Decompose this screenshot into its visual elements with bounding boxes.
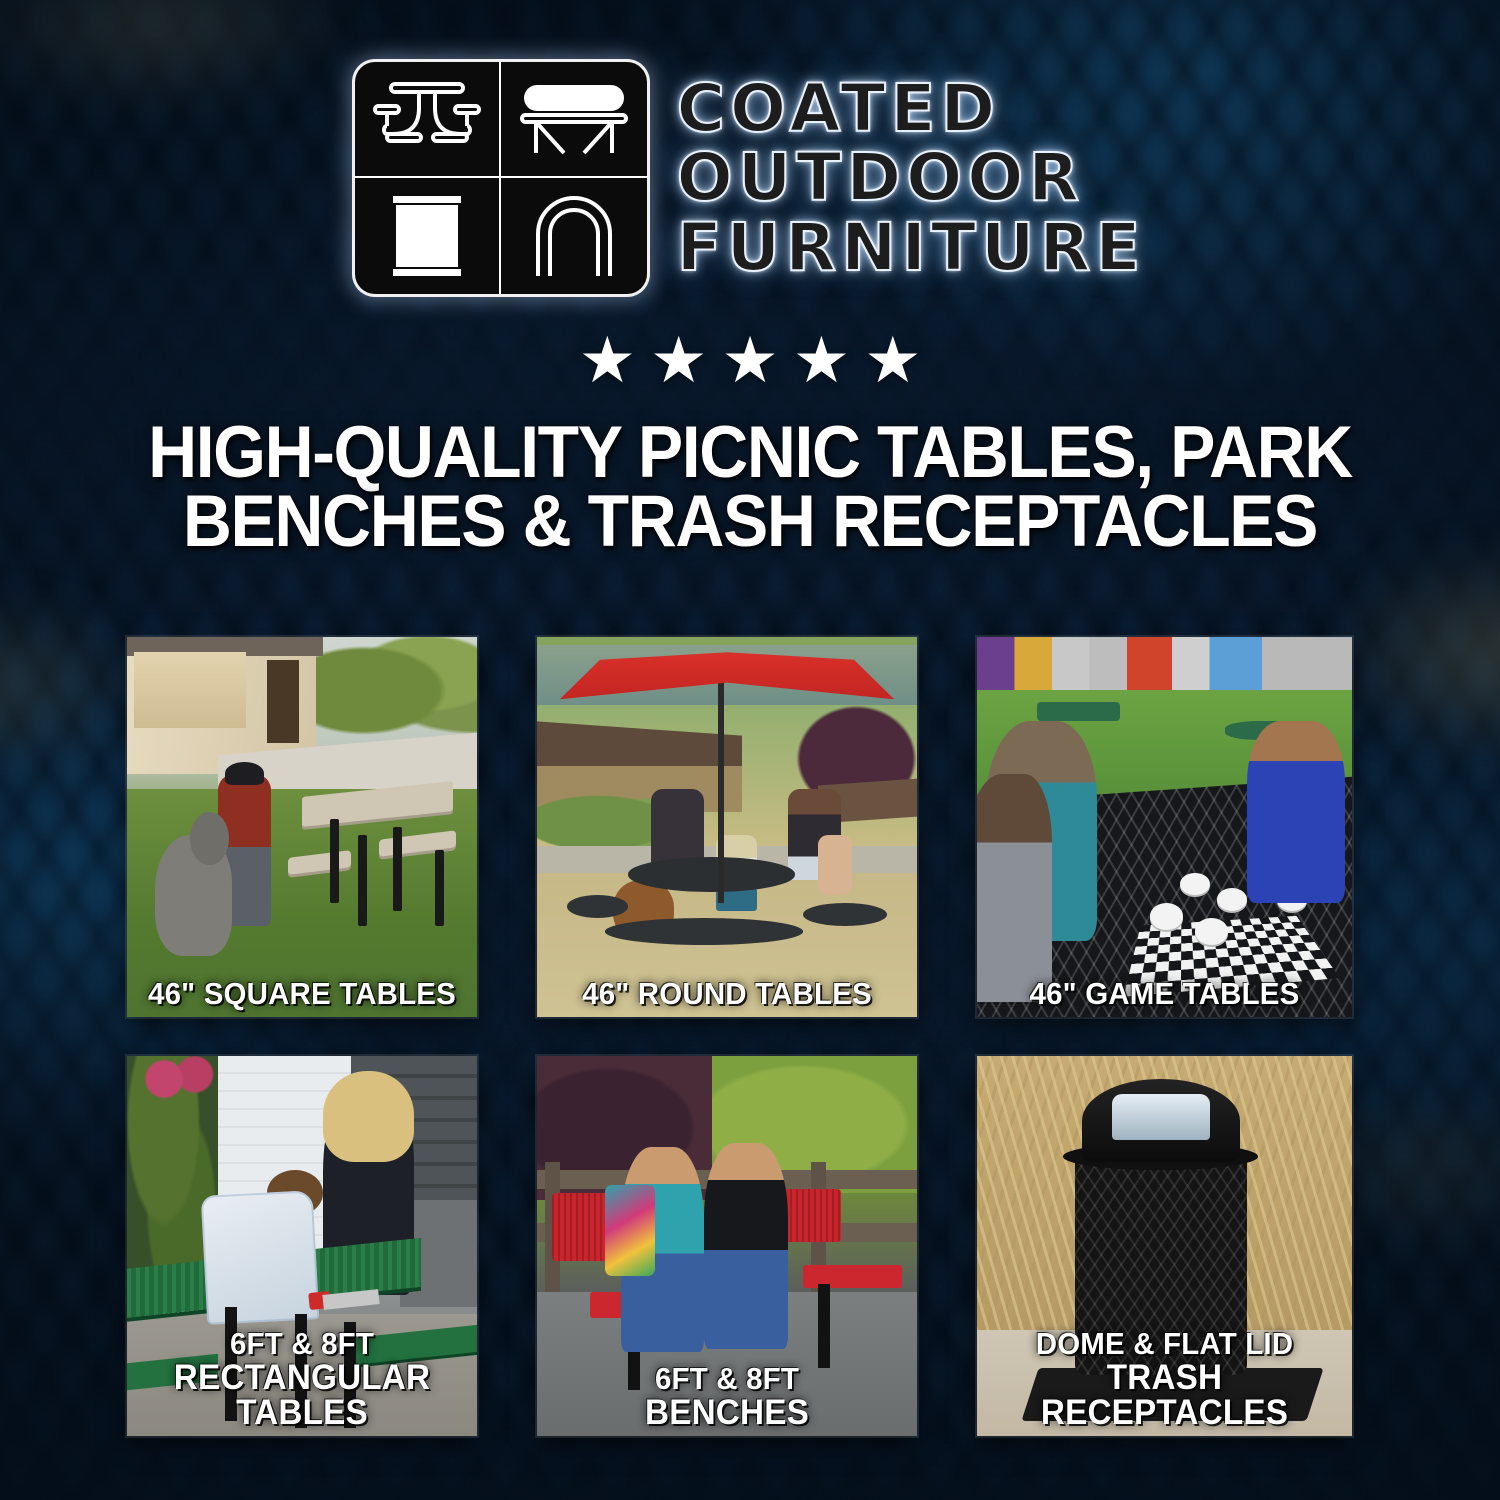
product-card-game-tables[interactable]: 46" GAME TABLES (977, 637, 1352, 1017)
brand-line-1: COATED (677, 75, 1146, 142)
brand-line-2: OUTDOOR (677, 144, 1146, 211)
product-card-square-tables[interactable]: 46" SQUARE TABLES (127, 637, 477, 1017)
star-icon: ★ (864, 328, 921, 392)
dome-lid-trash-can-icon (501, 178, 647, 294)
product-gallery: 46" SQUARE TABLES (127, 637, 1372, 1436)
caption-line-2: BENCHES (547, 1395, 908, 1430)
product-photo-round-tables (537, 637, 917, 1017)
page-title: HIGH-QUALITY PICNIC TABLES, PARK BENCHES… (53, 418, 1448, 557)
promotional-poster: COATED OUTDOOR FURNITURE ★★★★★ HIGH-QUAL… (0, 0, 1500, 1500)
brand-line-3: FURNITURE (677, 214, 1146, 281)
product-caption-benches: 6FT & 8FT BENCHES (547, 1363, 908, 1430)
headline-line-2: BENCHES & TRASH RECEPTACLES (118, 487, 1383, 556)
caption-line-1: 46" SQUARE TABLES (148, 976, 456, 1011)
caption-line-1: 46" ROUND TABLES (582, 976, 872, 1011)
caption-line-1: 6FT & 8FT (655, 1361, 799, 1396)
product-card-round-tables[interactable]: 46" ROUND TABLES (537, 637, 917, 1017)
caption-line-1: DOME & FLAT LID (1036, 1326, 1294, 1361)
park-bench-icon (501, 62, 647, 178)
flat-lid-trash-can-icon (355, 178, 501, 294)
caption-line-1: 6FT & 8FT (230, 1326, 374, 1361)
product-card-benches[interactable]: 6FT & 8FT BENCHES (537, 1056, 917, 1436)
poster-header: COATED OUTDOOR FURNITURE ★★★★★ HIGH-QUAL… (0, 0, 1500, 557)
star-icon: ★ (793, 328, 850, 392)
product-caption-round-tables: 46" ROUND TABLES (547, 978, 908, 1009)
product-photo-game-tables (977, 637, 1352, 1017)
logo-icon-grid (355, 62, 647, 294)
picnic-table-icon (355, 62, 501, 178)
brand-wordmark: COATED OUTDOOR FURNITURE (677, 75, 1146, 281)
product-caption-square-tables: 46" SQUARE TABLES (136, 978, 469, 1009)
product-card-rectangular-tables[interactable]: 6FT & 8FT RECTANGULAR TABLES (127, 1056, 477, 1436)
brand-logo: COATED OUTDOOR FURNITURE (0, 0, 1500, 294)
star-icon: ★ (650, 328, 707, 392)
star-icon: ★ (721, 328, 778, 392)
five-star-rating: ★★★★★ (0, 328, 1500, 392)
star-icon: ★ (579, 328, 636, 392)
product-caption-game-tables: 46" GAME TABLES (986, 978, 1342, 1009)
caption-line-2: TRASH RECEPTACLES (986, 1360, 1342, 1430)
product-card-trash-receptacles[interactable]: DOME & FLAT LID TRASH RECEPTACLES (977, 1056, 1352, 1436)
product-caption-trash-receptacles: DOME & FLAT LID TRASH RECEPTACLES (986, 1328, 1342, 1430)
caption-line-2: RECTANGULAR TABLES (136, 1360, 469, 1430)
headline-line-1: HIGH-QUALITY PICNIC TABLES, PARK (118, 418, 1383, 487)
product-photo-square-tables (127, 637, 477, 1017)
caption-line-1: 46" GAME TABLES (1030, 976, 1300, 1011)
product-caption-rectangular-tables: 6FT & 8FT RECTANGULAR TABLES (136, 1328, 469, 1430)
